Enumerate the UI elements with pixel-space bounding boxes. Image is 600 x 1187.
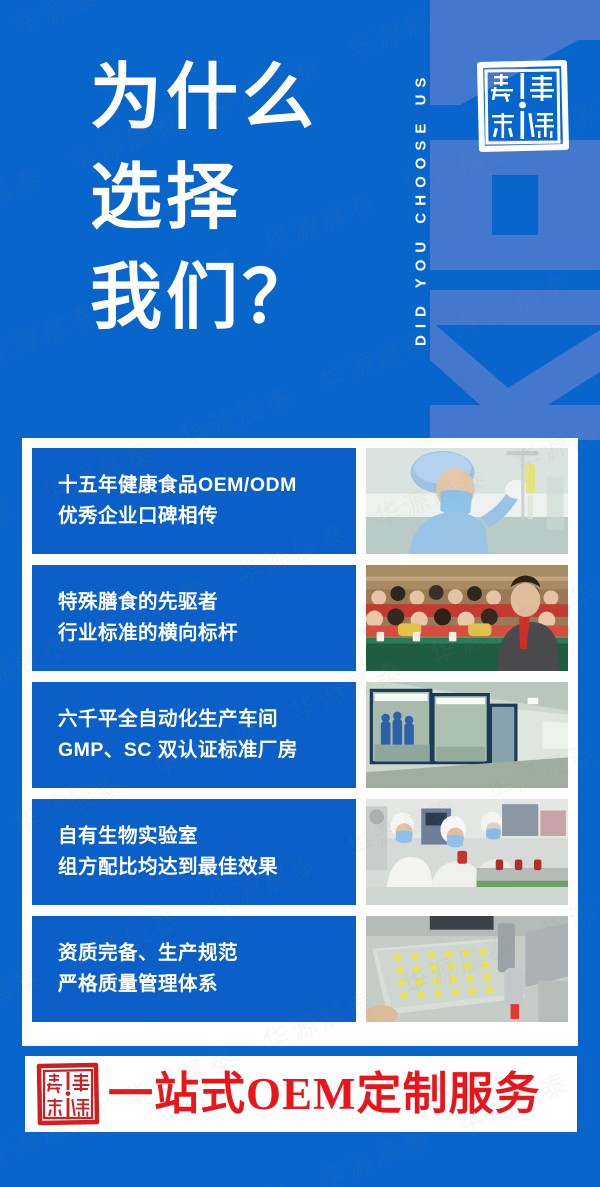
tablet-blister-packing-machine-photo: [366, 916, 568, 1022]
card-line-2: 行业标准的横向标杆: [58, 618, 356, 649]
card-line-2: 严格质量管理体系: [58, 969, 356, 1000]
footer-brand-seal-logo-icon: [36, 1062, 100, 1126]
card-text-block: 六千平全自动化生产车间 GMP、SC 双认证标准厂房: [32, 682, 356, 788]
headline-line-2: 选择: [90, 148, 318, 248]
conference-audience-photo: [366, 565, 568, 671]
list-item[interactable]: 十五年健康食品OEM/ODM 优秀企业口碑相传: [32, 448, 568, 554]
card-line-1: 自有生物实验室: [58, 821, 356, 852]
footer-cta-text: 一站式OEM定制服务: [108, 1069, 541, 1119]
footer-cta-banner[interactable]: 一站式OEM定制服务: [25, 1056, 577, 1132]
lab-technician-pipetting-photo: [366, 448, 568, 554]
headline-line-3: 我们？: [90, 248, 318, 348]
cleanroom-production-corridor-photo: [366, 682, 568, 788]
card-text-block: 自有生物实验室 组方配比均达到最佳效果: [32, 799, 356, 905]
card-line-1: 六千平全自动化生产车间: [58, 704, 356, 735]
poster-header: 为什么 选择 我们？ DID YOU CHOOSE US: [0, 0, 600, 440]
list-item[interactable]: 资质完备、生产规范 严格质量管理体系: [32, 916, 568, 1022]
card-line-1: 资质完备、生产规范: [58, 938, 356, 969]
card-text-block: 特殊膳食的先驱者 行业标准的横向标杆: [32, 565, 356, 671]
card-line-2: 优秀企业口碑相传: [58, 501, 356, 532]
card-text-block: 十五年健康食品OEM/ODM 优秀企业口碑相传: [32, 448, 356, 554]
feature-card-list: 十五年健康食品OEM/ODM 优秀企业口碑相传: [22, 438, 578, 1046]
list-item[interactable]: 特殊膳食的先驱者 行业标准的横向标杆: [32, 565, 568, 671]
card-text-block: 资质完备、生产规范 严格质量管理体系: [32, 916, 356, 1022]
card-line-2: 组方配比均达到最佳效果: [58, 852, 356, 883]
card-line-2: GMP、SC 双认证标准厂房: [58, 735, 356, 766]
list-item[interactable]: 自有生物实验室 组方配比均达到最佳效果: [32, 799, 568, 905]
technicians-inspecting-filling-line-photo: [366, 799, 568, 905]
brand-seal-logo-icon: [474, 57, 570, 153]
vertical-english-subtitle: DID YOU CHOOSE US: [404, 8, 438, 408]
card-line-1: 特殊膳食的先驱者: [58, 587, 356, 618]
card-line-1: 十五年健康食品OEM/ODM: [58, 470, 356, 501]
headline-line-1: 为什么: [90, 48, 318, 148]
page-title: 为什么 选择 我们？: [90, 48, 318, 348]
list-item[interactable]: 六千平全自动化生产车间 GMP、SC 双认证标准厂房: [32, 682, 568, 788]
poster-root: 为什么 选择 我们？ DID YOU CHOOSE US: [0, 0, 600, 1187]
